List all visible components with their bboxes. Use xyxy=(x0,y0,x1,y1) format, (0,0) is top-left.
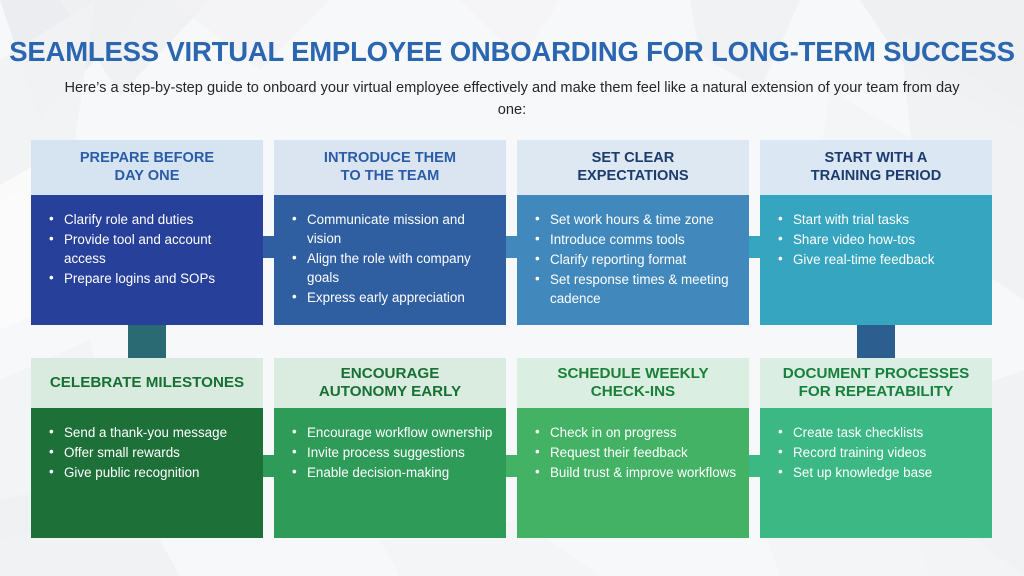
list-item: Offer small rewards xyxy=(49,443,253,462)
card-header: DOCUMENT PROCESSES FOR REPEATABILITY xyxy=(760,358,992,408)
list-item: Prepare logins and SOPs xyxy=(49,269,253,288)
card-bullet-list: Start with trial tasks Share video how-t… xyxy=(778,210,982,269)
card-bullet-list: Set work hours & time zone Introduce com… xyxy=(535,210,739,308)
card-header: START WITH A TRAINING PERIOD xyxy=(760,140,992,195)
list-item: Give real-time feedback xyxy=(778,250,982,269)
connector-card2-to-card3 xyxy=(506,236,517,258)
card-title-line: DAY ONE xyxy=(115,168,180,184)
card-document-processes-for-repeatability[interactable]: DOCUMENT PROCESSES FOR REPEATABILITY Cre… xyxy=(760,358,992,538)
card-header: PREPARE BEFORE DAY ONE xyxy=(31,140,263,195)
card-header: INTRODUCE THEM TO THE TEAM xyxy=(274,140,506,195)
card-bullet-list: Clarify role and duties Provide tool and… xyxy=(49,210,253,288)
card-header: SET CLEAR EXPECTATIONS xyxy=(517,140,749,195)
card-header: SCHEDULE WEEKLY CHECK-INS xyxy=(517,358,749,408)
process-row-bottom: CELEBRATE MILESTONES Send a thank-you me… xyxy=(31,358,993,538)
card-title-line: START WITH A xyxy=(825,150,928,166)
card-start-with-a-training-period[interactable]: START WITH A TRAINING PERIOD Start with … xyxy=(760,140,992,325)
card-bullet-list: Create task checklists Record training v… xyxy=(778,423,982,482)
card-title-line: TRAINING PERIOD xyxy=(811,168,942,184)
header: SEAMLESS VIRTUAL EMPLOYEE ONBOARDING FOR… xyxy=(0,36,1024,122)
connector-card7-to-card8 xyxy=(749,455,760,477)
card-body: Set work hours & time zone Introduce com… xyxy=(517,195,749,325)
card-title-line: SCHEDULE WEEKLY xyxy=(557,365,708,382)
connector-card3-to-card4 xyxy=(749,236,760,258)
card-body: Check in on progress Request their feedb… xyxy=(517,408,749,538)
card-bullet-list: Check in on progress Request their feedb… xyxy=(535,423,739,482)
card-prepare-before-day-one[interactable]: PREPARE BEFORE DAY ONE Clarify role and … xyxy=(31,140,263,325)
infographic-canvas: SEAMLESS VIRTUAL EMPLOYEE ONBOARDING FOR… xyxy=(0,0,1024,576)
card-header: ENCOURAGE AUTONOMY EARLY xyxy=(274,358,506,408)
card-title-line: PREPARE BEFORE xyxy=(80,150,214,166)
card-body: Send a thank-you message Offer small rew… xyxy=(31,408,263,538)
card-title-line: DOCUMENT PROCESSES xyxy=(783,365,970,382)
connector-card5-to-card6 xyxy=(263,455,274,477)
card-title-line: INTRODUCE THEM xyxy=(324,150,456,166)
list-item: Set response times & meeting cadence xyxy=(535,270,739,308)
card-bullet-list: Communicate mission and vision Align the… xyxy=(292,210,496,307)
card-title-line: SET CLEAR xyxy=(592,150,675,166)
page-title: SEAMLESS VIRTUAL EMPLOYEE ONBOARDING FOR… xyxy=(0,36,1024,68)
connector-card6-to-card7 xyxy=(506,455,517,477)
list-item: Invite process suggestions xyxy=(292,443,496,462)
card-body: Start with trial tasks Share video how-t… xyxy=(760,195,992,325)
list-item: Build trust & improve workflows xyxy=(535,463,739,482)
list-item: Encourage workflow ownership xyxy=(292,423,496,442)
card-title-line: CHECK-INS xyxy=(591,383,675,400)
list-item: Check in on progress xyxy=(535,423,739,442)
card-body: Create task checklists Record training v… xyxy=(760,408,992,538)
card-title-line: TO THE TEAM xyxy=(341,168,440,184)
card-title-line: EXPECTATIONS xyxy=(577,168,688,184)
card-celebrate-milestones[interactable]: CELEBRATE MILESTONES Send a thank-you me… xyxy=(31,358,263,538)
connector-card1-to-card2 xyxy=(263,236,274,258)
card-body: Communicate mission and vision Align the… xyxy=(274,195,506,325)
page-subtitle: Here’s a step-by-step guide to onboard y… xyxy=(62,77,962,122)
list-item: Record training videos xyxy=(778,443,982,462)
list-item: Give public recognition xyxy=(49,463,253,482)
list-item: Clarify reporting format xyxy=(535,250,739,269)
connector-card4-to-card8 xyxy=(857,325,895,358)
list-item: Set work hours & time zone xyxy=(535,210,739,229)
list-item: Communicate mission and vision xyxy=(292,210,496,248)
card-encourage-autonomy-early[interactable]: ENCOURAGE AUTONOMY EARLY Encourage workf… xyxy=(274,358,506,538)
list-item: Align the role with company goals xyxy=(292,249,496,287)
list-item: Provide tool and account access xyxy=(49,230,253,268)
list-item: Set up knowledge base xyxy=(778,463,982,482)
list-item: Send a thank-you message xyxy=(49,423,253,442)
card-set-clear-expectations[interactable]: SET CLEAR EXPECTATIONS Set work hours & … xyxy=(517,140,749,325)
list-item: Create task checklists xyxy=(778,423,982,442)
card-title-line: CELEBRATE MILESTONES xyxy=(50,374,244,392)
list-item: Introduce comms tools xyxy=(535,230,739,249)
card-bullet-list: Send a thank-you message Offer small rew… xyxy=(49,423,253,482)
list-item: Share video how-tos xyxy=(778,230,982,249)
card-bullet-list: Encourage workflow ownership Invite proc… xyxy=(292,423,496,482)
list-item: Start with trial tasks xyxy=(778,210,982,229)
card-title-line: ENCOURAGE xyxy=(341,365,440,382)
card-title-line: FOR REPEATABILITY xyxy=(799,383,954,400)
card-header: CELEBRATE MILESTONES xyxy=(31,358,263,408)
list-item: Express early appreciation xyxy=(292,288,496,307)
card-title-line: AUTONOMY EARLY xyxy=(319,383,461,400)
process-row-top: PREPARE BEFORE DAY ONE Clarify role and … xyxy=(31,140,993,325)
connector-card1-to-card5 xyxy=(128,325,166,358)
list-item: Request their feedback xyxy=(535,443,739,462)
card-schedule-weekly-check-ins[interactable]: SCHEDULE WEEKLY CHECK-INS Check in on pr… xyxy=(517,358,749,538)
card-introduce-them-to-the-team[interactable]: INTRODUCE THEM TO THE TEAM Communicate m… xyxy=(274,140,506,325)
list-item: Clarify role and duties xyxy=(49,210,253,229)
card-body: Encourage workflow ownership Invite proc… xyxy=(274,408,506,538)
card-body: Clarify role and duties Provide tool and… xyxy=(31,195,263,325)
list-item: Enable decision-making xyxy=(292,463,496,482)
